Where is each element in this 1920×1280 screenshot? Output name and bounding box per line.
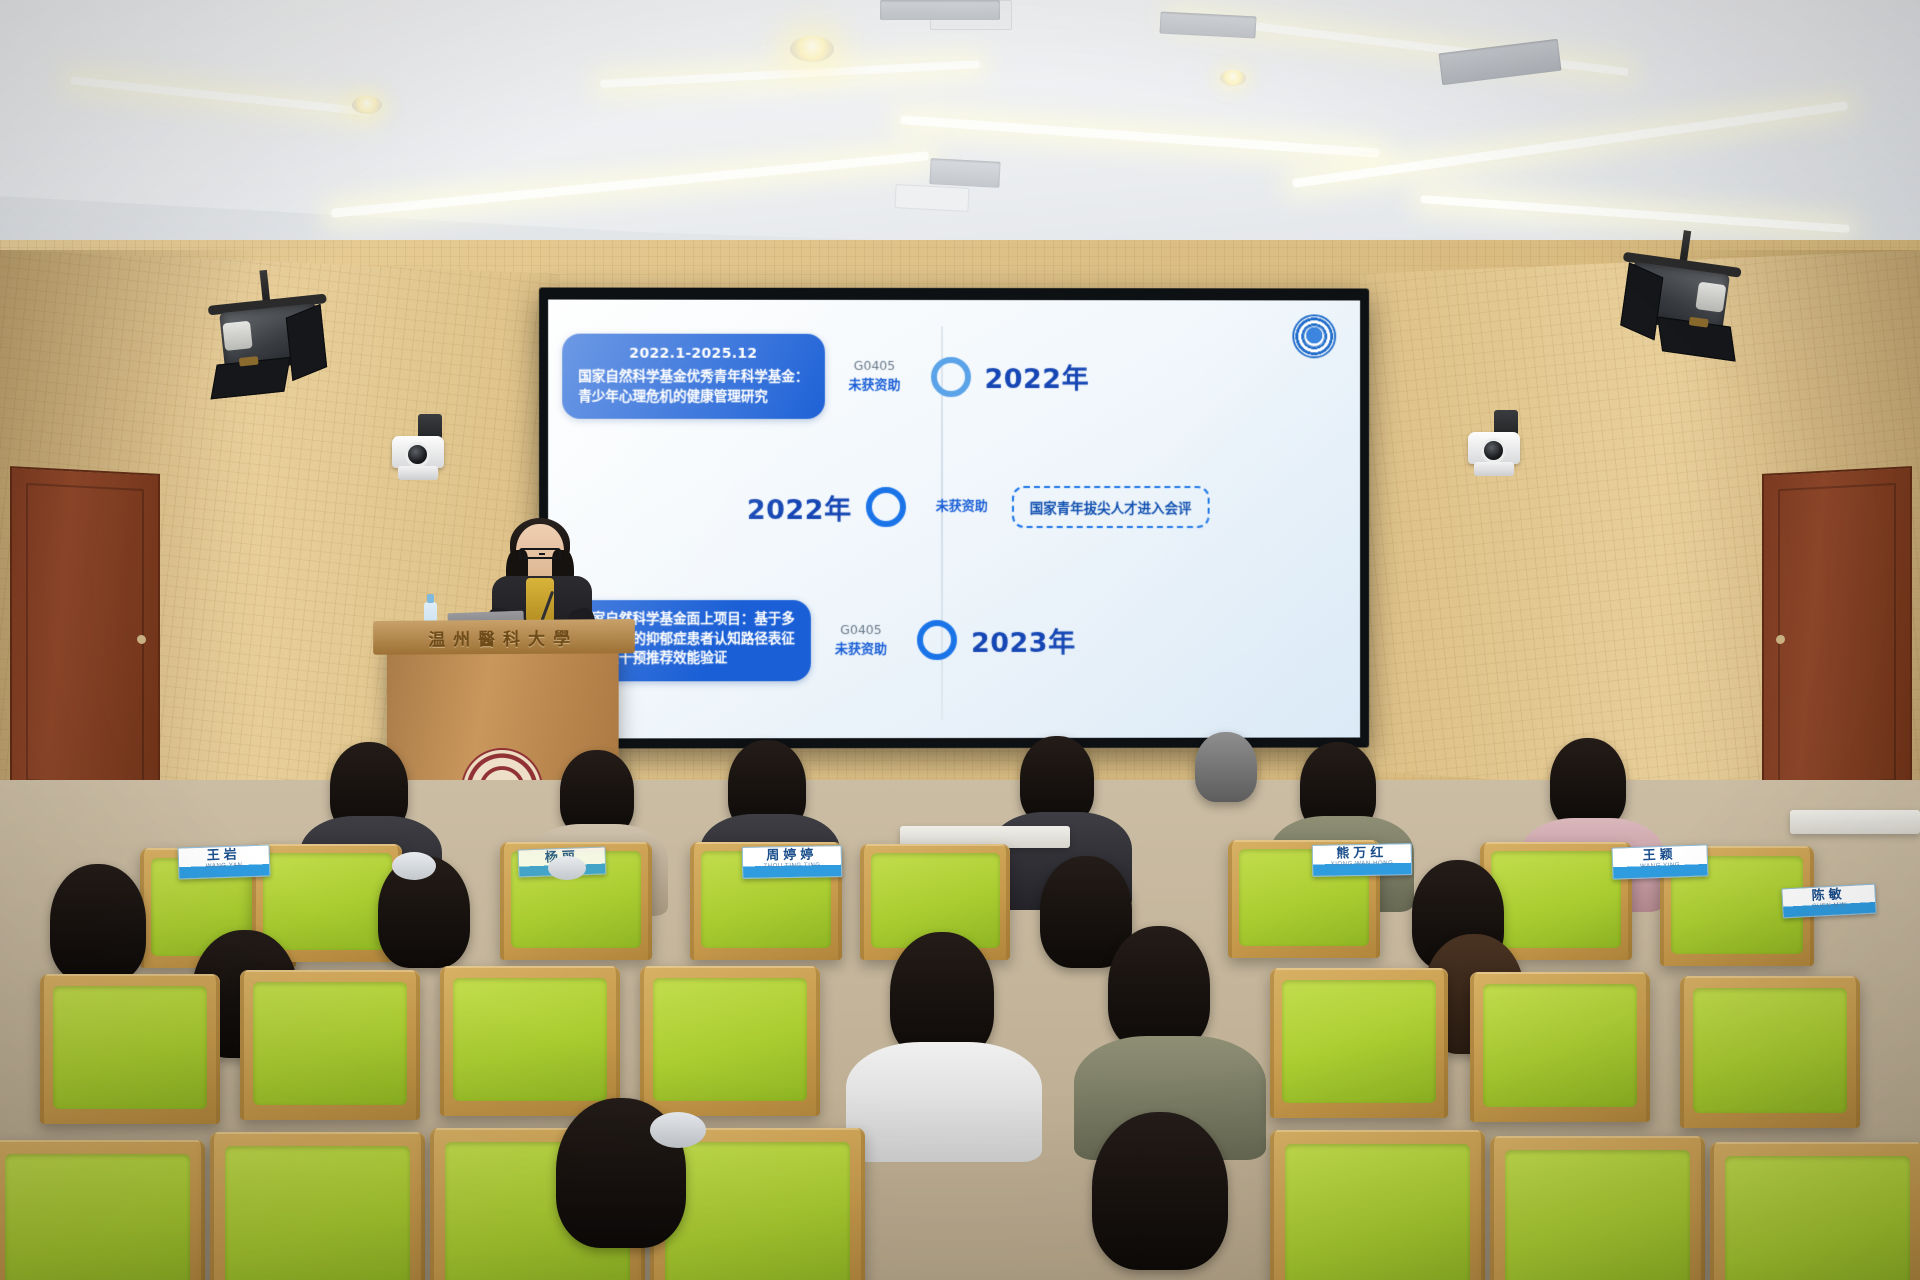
grant-period: 2022.1-2025.12: [578, 344, 808, 365]
door-knob-icon[interactable]: [137, 635, 146, 644]
audience-seating: 王岩 WANG YAN 周婷婷 ZHOU TING TING 熊万红 XIONG…: [0, 760, 1920, 1280]
seat-name-card: 王颖 WANG YING: [1611, 844, 1708, 879]
timeline-row-1: 2022.1-2025.12 国家自然科学基金优秀青年科学基金： 青少年心理危机…: [562, 334, 1352, 420]
seat-name-card: 熊万红 XIONG WAN HONG: [1312, 843, 1413, 877]
seat[interactable]: [0, 1140, 205, 1280]
ceiling-slot: [880, 0, 1000, 20]
timeline-year: 2022年: [747, 487, 852, 526]
seat[interactable]: [1270, 1130, 1485, 1280]
seat[interactable]: [640, 966, 820, 1116]
grant-title-line: 国家自然科学基金优秀青年科学基金：: [578, 368, 808, 388]
name-card-cn: 王岩: [207, 848, 241, 863]
projection-screen-frame: 2022.1-2025.12 国家自然科学基金优秀青年科学基金： 青少年心理危机…: [539, 287, 1369, 748]
ceiling-downlight: [352, 96, 382, 114]
seat-cushion: [665, 1142, 850, 1280]
seat-name-card: 周婷婷 ZHOU TING TING: [742, 845, 843, 879]
audience-head: [1020, 736, 1094, 824]
camera-base: [1474, 462, 1514, 476]
seat-cushion: [453, 978, 608, 1101]
institution-name: 温州醫科大學: [428, 624, 578, 650]
door-panel: [1778, 483, 1896, 787]
stage-light-lens-icon: [222, 321, 252, 351]
audience-head: [1108, 926, 1210, 1050]
seat-cushion: [1725, 1156, 1910, 1280]
seat-cushion: [1491, 851, 1622, 948]
name-card-en: XIONG WAN HONG: [1331, 861, 1394, 868]
grant-code: G0405: [815, 620, 907, 640]
seat[interactable]: [240, 970, 420, 1120]
seat-cushion: [1505, 1150, 1690, 1280]
seat-cushion: [53, 986, 208, 1109]
seat-cushion: [5, 1154, 190, 1280]
door-right[interactable]: [1762, 466, 1912, 804]
timeline-row-3: 国家自然科学基金面上项目：基于多 模态数据的抑郁症患者认知路径表征 与心理干预推…: [562, 600, 1352, 681]
ptz-camera-left: [392, 414, 448, 484]
grant-callout-1: 2022.1-2025.12 国家自然科学基金优秀青年科学基金： 青少年心理危机…: [562, 334, 824, 420]
timeline-year: 2022年: [984, 357, 1089, 396]
ceiling-slot: [929, 158, 1000, 188]
presentation-slide: 2022.1-2025.12 国家自然科学基金优秀青年科学基金： 青少年心理危机…: [548, 300, 1360, 739]
seat[interactable]: [1710, 1142, 1920, 1280]
grant-status: 未获资助: [815, 640, 907, 661]
seat-cushion: [1282, 980, 1435, 1103]
podium-header: 温州醫科大學: [373, 619, 635, 655]
ceiling-downlight: [1220, 70, 1246, 86]
seat[interactable]: [40, 974, 220, 1124]
audience-head: [890, 932, 994, 1058]
grant-meta-3: G0405 未获资助: [815, 620, 907, 661]
audience-head: [1092, 1112, 1228, 1270]
name-card-en: WANG YING: [1640, 863, 1680, 870]
seat-name-card: 王岩 WANG YAN: [177, 844, 270, 879]
name-card-cn: 熊万红: [1336, 847, 1387, 862]
presenter-glasses-icon: [519, 548, 561, 559]
seat[interactable]: [210, 1132, 425, 1280]
timeline-row-2: 2022年 未获资助 国家青年拔尖人才进入会评: [739, 486, 1360, 528]
lecture-hall-photo: 2022.1-2025.12 国家自然科学基金优秀青年科学基金： 青少年心理危机…: [0, 0, 1920, 1280]
stage-light-barndoor: [1620, 262, 1663, 340]
seat-cushion: [1483, 984, 1638, 1107]
door-left[interactable]: [10, 466, 160, 804]
door-panel: [26, 483, 144, 787]
seat-name-card: 陈敏 CHEN MIN: [1781, 884, 1876, 919]
hair-scrunchie: [392, 852, 436, 880]
grant-code: G0405: [828, 356, 920, 376]
audience-head: [1195, 732, 1257, 802]
stage-light-right: [1599, 240, 1750, 376]
timeline-marker-circle-icon: [930, 357, 970, 397]
timeline-marker-circle-icon: [866, 487, 906, 527]
seat[interactable]: [440, 966, 620, 1116]
name-card-cn: 王颖: [1643, 848, 1677, 863]
seat-cushion: [263, 853, 392, 950]
projection-screen: 2022.1-2025.12 国家自然科学基金优秀青年科学基金： 青少年心理危机…: [548, 300, 1360, 739]
seat[interactable]: [1270, 968, 1448, 1118]
seat-cushion: [225, 1146, 410, 1280]
grant-status: 未获资助: [916, 497, 1008, 518]
grant-title-line: 青少年心理危机的健康管理研究: [578, 388, 808, 408]
seat-cushion: [1693, 988, 1848, 1113]
stage-light-lens-icon: [1695, 282, 1726, 313]
audience-head: [50, 864, 146, 982]
name-card-en: CHEN MIN: [1812, 902, 1847, 910]
timeline-year: 2023年: [971, 621, 1076, 660]
seat-cushion: [1285, 1144, 1470, 1280]
camera-lens-icon: [1481, 438, 1506, 463]
seat[interactable]: [1490, 1136, 1705, 1280]
ceiling-vent: [894, 184, 969, 212]
name-card-cn: 周婷婷: [766, 849, 817, 864]
timeline-marker-circle-icon: [917, 620, 957, 660]
seat-cushion: [253, 982, 408, 1105]
audience-shoulders: [846, 1042, 1042, 1162]
audience-head: [1550, 738, 1626, 828]
camera-base: [398, 466, 438, 480]
hair-scrunchie: [650, 1112, 706, 1148]
name-card-en: WANG YAN: [206, 863, 243, 870]
grant-meta-2: 未获资助: [916, 497, 1008, 518]
desk-surface: [1790, 810, 1920, 834]
camera-lens-icon: [405, 442, 430, 467]
seat-cushion: [653, 978, 808, 1101]
grant-meta-1: G0405 未获资助: [828, 356, 920, 397]
seat[interactable]: [1680, 976, 1860, 1128]
talent-note-box: 国家青年拔尖人才进入会评: [1012, 486, 1210, 528]
seat[interactable]: [1470, 972, 1650, 1122]
grant-status: 未获资助: [828, 376, 920, 397]
stage-light-barndoor: [286, 304, 327, 381]
hair-scrunchie: [548, 856, 586, 880]
ptz-camera-right: [1468, 410, 1524, 480]
name-card-en: ZHOU TING TING: [763, 863, 820, 870]
stage-light-left: [200, 282, 347, 414]
ceiling-downlight: [790, 36, 834, 62]
